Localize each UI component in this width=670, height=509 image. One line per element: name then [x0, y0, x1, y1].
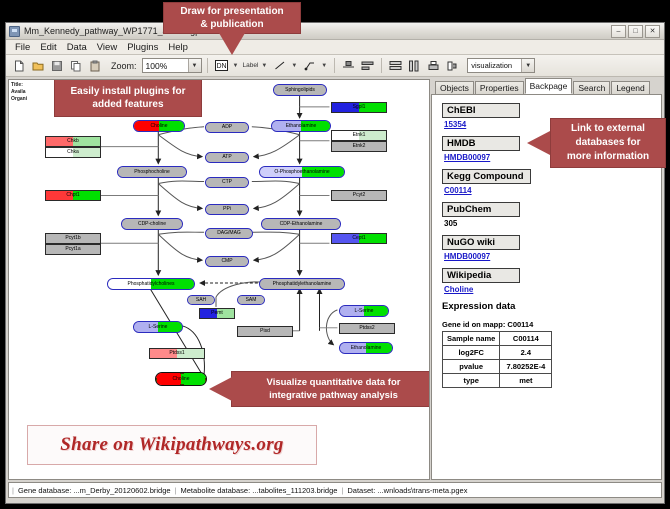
visualization-value: visualization [471, 61, 512, 70]
svg-text:DN: DN [216, 63, 226, 70]
node-label: Choline [173, 377, 190, 382]
status-metabolite-database: Metabolite database: ...tabolites_111203… [181, 486, 338, 495]
label-tool-text: Label [242, 62, 258, 69]
callout-draw-arrow [219, 33, 245, 55]
pathway-node-adp[interactable]: ADP [205, 122, 249, 133]
pathway-node-ptdss2[interactable]: Ptdss2 [339, 323, 395, 334]
table-row: typemet [443, 374, 552, 388]
pathway-node-cept1[interactable]: Cept1 [331, 233, 387, 244]
pathway-node-etnk1[interactable]: Etnk1 [331, 130, 387, 141]
node-label: Choline [151, 124, 168, 129]
share-banner: Share on Wikipathways.org [27, 425, 317, 465]
node-label: ADP [222, 125, 232, 130]
menu-file[interactable]: File [10, 42, 35, 53]
node-label: Phosphatidylcholines [128, 282, 175, 287]
node-label: Etnk2 [353, 144, 366, 149]
pathway-node-cdp-ethanolamine[interactable]: CDP-Ethanolamine [261, 218, 341, 230]
line-icon[interactable] [271, 57, 288, 74]
pathway-node-pcyt1a[interactable]: Pcyt1a [45, 244, 101, 255]
pathway-node-ppi[interactable]: PPi [205, 204, 249, 215]
label-tool[interactable]: Label ▼ [242, 62, 269, 69]
selection-handle[interactable] [180, 372, 184, 374]
tab-backpage[interactable]: Backpage [525, 78, 573, 94]
node-label: Pcyt1a [65, 247, 80, 252]
node-label: O-Phosphoethanolamine [274, 170, 329, 175]
close-button[interactable]: ✕ [645, 25, 660, 38]
expression-table: Sample nameC00114log2FC2.4pvalue7.80252E… [442, 331, 552, 388]
pathway-node-choline-top[interactable]: Choline [133, 120, 185, 132]
print-icon[interactable] [425, 57, 442, 74]
node-label: SAH [196, 298, 206, 303]
status-divider-1: | [12, 486, 14, 495]
database-link-nugo-wiki[interactable]: HMDB00097 [444, 252, 653, 261]
pathway-node-choline-selected[interactable]: Choline [155, 372, 207, 386]
node-label: L-Serine [149, 325, 168, 330]
pathway-canvas[interactable]: Title: Availa Organi [8, 79, 430, 480]
screenshot-root: Mm_Kennedy_pathway_WP1771_45176.gpml – □… [0, 0, 670, 509]
callout-link-text: Link to external databases for more info… [567, 122, 649, 164]
database-header-kegg-compound: Kegg Compound [442, 169, 531, 184]
callout-visualize-arrow [209, 377, 232, 401]
paste-icon[interactable] [86, 57, 103, 74]
node-label: CDP-choline [138, 222, 166, 227]
node-label: Pemt [211, 311, 223, 316]
zoom-combo[interactable]: 100% ▼ [142, 58, 202, 73]
menu-plugins[interactable]: Plugins [122, 42, 163, 53]
table-row: log2FC2.4 [443, 346, 552, 360]
visualization-combo[interactable]: visualization ▼ [467, 58, 535, 73]
database-header-nugo-wiki: NuGO wiki [442, 235, 520, 250]
database-link-wikipedia[interactable]: Choline [444, 285, 653, 294]
expression-value: C00114 [500, 332, 552, 346]
callout-plugins-text: Easily install plugins for added feature… [70, 85, 185, 111]
node-label: CTP [222, 180, 232, 185]
status-bar: | Gene database: ...m_Derby_20120602.bri… [8, 482, 662, 498]
expression-heading: Expression data [442, 301, 653, 312]
node-label: Pisd [260, 329, 270, 334]
expression-value: met [500, 374, 552, 388]
node-label: SAM [246, 298, 257, 303]
pathway-node-pisd[interactable]: Pisd [237, 326, 293, 337]
pathway-node-chkb[interactable]: Chkb [45, 136, 101, 147]
anchor-tool[interactable]: ▼ [301, 57, 329, 74]
database-link-kegg-compound[interactable]: C00114 [444, 186, 653, 195]
pathway-node-o-phosphoethanolamine[interactable]: O-Phosphoethanolamine [259, 166, 345, 178]
node-label: Phosphatidylethanolamine [273, 282, 332, 287]
copy-icon[interactable] [67, 57, 84, 74]
gene-id-line: Gene id on mapp: C00114 [442, 320, 653, 329]
node-label: Ptdss2 [359, 326, 374, 331]
menu-help[interactable]: Help [163, 42, 193, 53]
callout-draw-text: Draw for presentation & publication [180, 5, 283, 31]
pathway-node-sam[interactable]: SAM [237, 295, 265, 305]
pathway-node-sgpl1[interactable]: Sgpl1 [331, 102, 387, 113]
pathway-node-etnk2[interactable]: Etnk2 [331, 141, 387, 152]
distribute-icon[interactable] [359, 57, 376, 74]
layer-icon[interactable] [444, 57, 461, 74]
table-row: Sample nameC00114 [443, 332, 552, 346]
pathway-node-pcyt2[interactable]: Pcyt2 [331, 190, 387, 201]
callout-plugins-arrow [101, 79, 127, 80]
database-header-wikipedia: Wikipedia [442, 268, 520, 283]
node-label: CDP-Ethanolamine [280, 222, 323, 227]
pathway-node-cmp[interactable]: CMP [205, 256, 249, 267]
pathway-node-ctp[interactable]: CTP [205, 177, 249, 188]
pathway-node-pcyt1b[interactable]: Pcyt1b [45, 233, 101, 244]
datanode-tool[interactable]: DN ▼ [213, 57, 241, 74]
callout-link: Link to external databases for more info… [550, 118, 666, 168]
table-row: pvalue7.80252E-4 [443, 360, 552, 374]
node-label: Ptdss1 [169, 351, 184, 356]
application-window: Mm_Kennedy_pathway_WP1771_45176.gpml – □… [5, 22, 665, 504]
node-label: Sphingolipids [285, 88, 315, 93]
node-label: DAG/MAG [217, 231, 241, 236]
callout-draw: Draw for presentation & publication [163, 2, 301, 34]
expression-value: 2.4 [500, 346, 552, 360]
expression-key: Sample name [443, 332, 500, 346]
node-label: ATP [222, 155, 231, 160]
pathway-node-sah[interactable]: SAH [187, 295, 215, 305]
node-label: Pcyt1b [65, 236, 80, 241]
database-header-pubchem: PubChem [442, 202, 520, 217]
connector-icon[interactable] [301, 57, 318, 74]
expression-key: type [443, 374, 500, 388]
new-file-icon[interactable] [10, 57, 27, 74]
pathway-node-l-serine-left[interactable]: L-Serine [133, 321, 183, 333]
selection-handle[interactable] [155, 378, 157, 382]
window-controls[interactable]: – □ ✕ [611, 25, 661, 38]
app-icon [9, 26, 20, 37]
chevron-down-icon[interactable]: ▼ [319, 63, 329, 69]
node-label: Pcyt2 [353, 193, 366, 198]
callout-visualize-text: Visualize quantitative data for integrat… [267, 376, 401, 402]
node-label: Cept1 [352, 236, 365, 241]
datanode-icon[interactable]: DN [213, 57, 230, 74]
pathway-node-phosphatidylcholines[interactable]: Phosphatidylcholines [107, 278, 195, 290]
stack-icon[interactable] [387, 57, 404, 74]
database-value-pubchem: 305 [444, 219, 653, 228]
pathway-node-pemt[interactable]: Pemt [199, 308, 235, 319]
pathway-node-atp[interactable]: ATP [205, 152, 249, 163]
expression-key: pvalue [443, 360, 500, 374]
zoom-label: Zoom: [111, 61, 137, 71]
chevron-down-icon[interactable]: ▼ [188, 59, 201, 72]
callout-plugins: Easily install plugins for added feature… [54, 79, 202, 117]
toolbar[interactable]: Zoom: 100% ▼ DN ▼ Label ▼ ▼ [6, 55, 664, 77]
menu-data[interactable]: Data [62, 42, 92, 53]
pathway-node-phosphatidylethanolamine[interactable]: Phosphatidylethanolamine [259, 278, 345, 290]
node-label: Ethanolamine [351, 346, 382, 351]
share-banner-text: Share on Wikipathways.org [60, 434, 283, 456]
selection-handle[interactable] [155, 372, 157, 374]
zoom-value: 100% [146, 61, 168, 71]
align-icon[interactable] [340, 57, 357, 74]
node-label: Chkb [67, 139, 79, 144]
chevron-down-icon[interactable]: ▼ [259, 63, 269, 69]
title-bar: Mm_Kennedy_pathway_WP1771_45176.gpml – □… [6, 23, 664, 40]
selection-handle[interactable] [180, 384, 184, 386]
pathway-node-ethanolamine[interactable]: Ethanolamine [271, 120, 331, 132]
database-header-hmdb: HMDB [442, 136, 520, 151]
callout-link-arrow [527, 131, 550, 155]
columns-icon[interactable] [406, 57, 423, 74]
menu-view[interactable]: View [92, 42, 122, 53]
node-label: Chpt1 [66, 193, 79, 198]
tab-search[interactable]: Search [573, 81, 610, 94]
pathway-node-sphingolipids[interactable]: Sphingolipids [273, 84, 327, 96]
node-label: Ethanolamine [286, 124, 317, 129]
node-label: Phosphocholine [134, 170, 170, 175]
pathway-node-dagmag[interactable]: DAG/MAG [205, 228, 253, 239]
node-label: Chka [67, 150, 79, 155]
pathway-node-l-serine-right[interactable]: L-Serine [339, 305, 389, 317]
toolbar-separator [207, 58, 208, 73]
chevron-down-icon[interactable]: ▼ [289, 63, 299, 69]
expression-value: 7.80252E-4 [500, 360, 552, 374]
callout-visualize: Visualize quantitative data for integrat… [231, 371, 430, 407]
toolbar-separator-3 [381, 58, 382, 73]
tab-objects[interactable]: Objects [435, 81, 474, 94]
expression-key: log2FC [443, 346, 500, 360]
database-header-chebi: ChEBI [442, 103, 520, 118]
tab-legend[interactable]: Legend [611, 81, 649, 94]
node-label: PPi [223, 207, 231, 212]
status-gene-database: Gene database: ...m_Derby_20120602.bridg… [18, 486, 171, 495]
toolbar-separator-2 [334, 58, 335, 73]
menu-bar[interactable]: File Edit Data View Plugins Help [6, 40, 664, 55]
pathway-node-cdp-choline[interactable]: CDP-choline [121, 218, 183, 230]
status-dataset: Dataset: ...wnloads\trans-meta.pgex [347, 486, 467, 495]
panel-tabs[interactable]: Objects Properties Backpage Search Legen… [431, 79, 662, 95]
chevron-down-icon[interactable]: ▼ [231, 63, 241, 69]
pathway-node-chpt1[interactable]: Chpt1 [45, 190, 101, 201]
node-label: Sgpl1 [353, 105, 366, 110]
menu-edit[interactable]: Edit [35, 42, 61, 53]
pathway-node-chka[interactable]: Chka [45, 147, 101, 158]
node-label: Etnk1 [353, 133, 366, 138]
node-label: CMP [221, 259, 232, 264]
pathway-node-phosphocholine[interactable]: Phosphocholine [117, 166, 187, 178]
line-tool[interactable]: ▼ [271, 57, 299, 74]
pathway-node-ptdss1[interactable]: Ptdss1 [149, 348, 205, 359]
maximize-button[interactable]: □ [628, 25, 643, 38]
save-icon[interactable] [48, 57, 65, 74]
tab-properties[interactable]: Properties [475, 81, 524, 94]
status-divider-2: | [175, 486, 177, 495]
chevron-down-icon[interactable]: ▼ [521, 59, 534, 72]
open-folder-icon[interactable] [29, 57, 46, 74]
minimize-button[interactable]: – [611, 25, 626, 38]
status-divider-3: | [341, 486, 343, 495]
pathway-node-ethanolamine-right[interactable]: Ethanolamine [339, 342, 393, 354]
node-label: L-Serine [355, 309, 374, 314]
